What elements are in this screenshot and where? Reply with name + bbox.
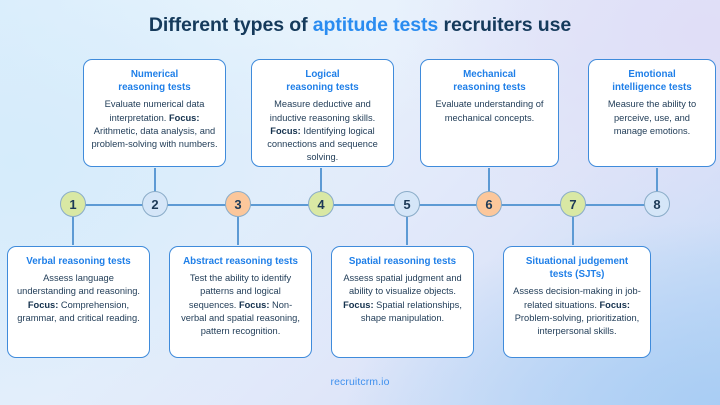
connector-line-3 [237, 215, 239, 245]
connector-line-5 [406, 215, 408, 245]
card-body-text: Measure the ability to perceive, use, an… [608, 99, 696, 135]
timeline-node-3[interactable]: 3 [225, 191, 251, 217]
card-focus-text: Arithmetic, data analysis, and problem-s… [91, 126, 217, 149]
card-heading: Spatial reasoning tests [339, 255, 466, 268]
top-card-3[interactable]: Mechanicalreasoning testsEvaluate unders… [420, 59, 559, 167]
title-text-after: recruiters use [438, 14, 571, 36]
timeline-node-label: 2 [151, 197, 158, 212]
page-title: Different types of aptitude tests recrui… [0, 14, 720, 37]
card-focus-label: Focus: [343, 300, 373, 310]
card-body: Evaluate numerical data interpretation. … [91, 98, 218, 151]
card-body-text: Assess spatial judgment and ability to v… [343, 273, 461, 296]
card-body: Assess spatial judgment and ability to v… [339, 272, 466, 325]
connector-line-6 [488, 168, 490, 193]
timeline-node-6[interactable]: 6 [476, 191, 502, 217]
timeline-node-5[interactable]: 5 [394, 191, 420, 217]
timeline-node-label: 4 [317, 197, 324, 212]
card-heading: Situational judgementtests (SJTs) [511, 255, 643, 281]
card-body: Assess language understanding and reason… [15, 272, 142, 325]
timeline-node-label: 8 [653, 197, 660, 212]
timeline-node-label: 5 [403, 197, 410, 212]
card-body: Measure deductive and inductive reasonin… [259, 98, 386, 164]
card-body-text: Assess language understanding and reason… [17, 273, 140, 296]
timeline-node-label: 7 [569, 197, 576, 212]
connector-line-2 [154, 168, 156, 193]
card-heading: Numericalreasoning tests [91, 68, 218, 94]
card-body-text: Measure deductive and inductive reasonin… [270, 99, 375, 122]
footer-brand: recruitcrm.io [0, 376, 720, 388]
card-focus-label: Focus: [239, 300, 269, 310]
timeline-node-8[interactable]: 8 [644, 191, 670, 217]
title-text-before: Different types of [149, 14, 313, 36]
top-card-4[interactable]: Emotionalintelligence testsMeasure the a… [588, 59, 716, 167]
bottom-card-4[interactable]: Situational judgementtests (SJTs)Assess … [503, 246, 651, 358]
top-card-1[interactable]: Numericalreasoning testsEvaluate numeric… [83, 59, 226, 167]
card-heading: Logicalreasoning tests [259, 68, 386, 94]
card-focus-label: Focus: [270, 126, 300, 136]
card-focus-label: Focus: [169, 113, 199, 123]
connector-line-8 [656, 168, 658, 193]
bottom-card-1[interactable]: Verbal reasoning testsAssess language un… [7, 246, 150, 358]
card-body-text: Evaluate understanding of mechanical con… [435, 99, 543, 122]
card-focus-text: Spatial relationships, shape manipulatio… [361, 300, 462, 323]
infographic-root: Different types of aptitude tests recrui… [0, 0, 720, 405]
connector-line-1 [72, 215, 74, 245]
card-focus-text: Problem-solving, prioritization, interpe… [515, 313, 640, 336]
timeline-node-2[interactable]: 2 [142, 191, 168, 217]
card-heading: Abstract reasoning tests [177, 255, 304, 268]
bottom-card-3[interactable]: Spatial reasoning testsAssess spatial ju… [331, 246, 474, 358]
timeline-node-label: 6 [485, 197, 492, 212]
top-card-2[interactable]: Logicalreasoning testsMeasure deductive … [251, 59, 394, 167]
timeline-node-label: 1 [69, 197, 76, 212]
card-focus-label: Focus: [599, 300, 629, 310]
card-body: Test the ability to identify patterns an… [177, 272, 304, 338]
card-body: Measure the ability to perceive, use, an… [596, 98, 708, 138]
timeline-node-7[interactable]: 7 [560, 191, 586, 217]
card-body: Evaluate understanding of mechanical con… [428, 98, 551, 124]
card-heading: Emotionalintelligence tests [596, 68, 708, 94]
connector-line-4 [320, 168, 322, 193]
bottom-card-2[interactable]: Abstract reasoning testsTest the ability… [169, 246, 312, 358]
card-heading: Verbal reasoning tests [15, 255, 142, 268]
connector-line-7 [572, 215, 574, 245]
timeline-node-4[interactable]: 4 [308, 191, 334, 217]
card-body: Assess decision-making in job-related si… [511, 285, 643, 338]
card-heading: Mechanicalreasoning tests [428, 68, 551, 94]
timeline-node-label: 3 [234, 197, 241, 212]
title-highlight: aptitude tests [313, 14, 438, 36]
card-focus-label: Focus: [28, 300, 58, 310]
timeline-node-1[interactable]: 1 [60, 191, 86, 217]
